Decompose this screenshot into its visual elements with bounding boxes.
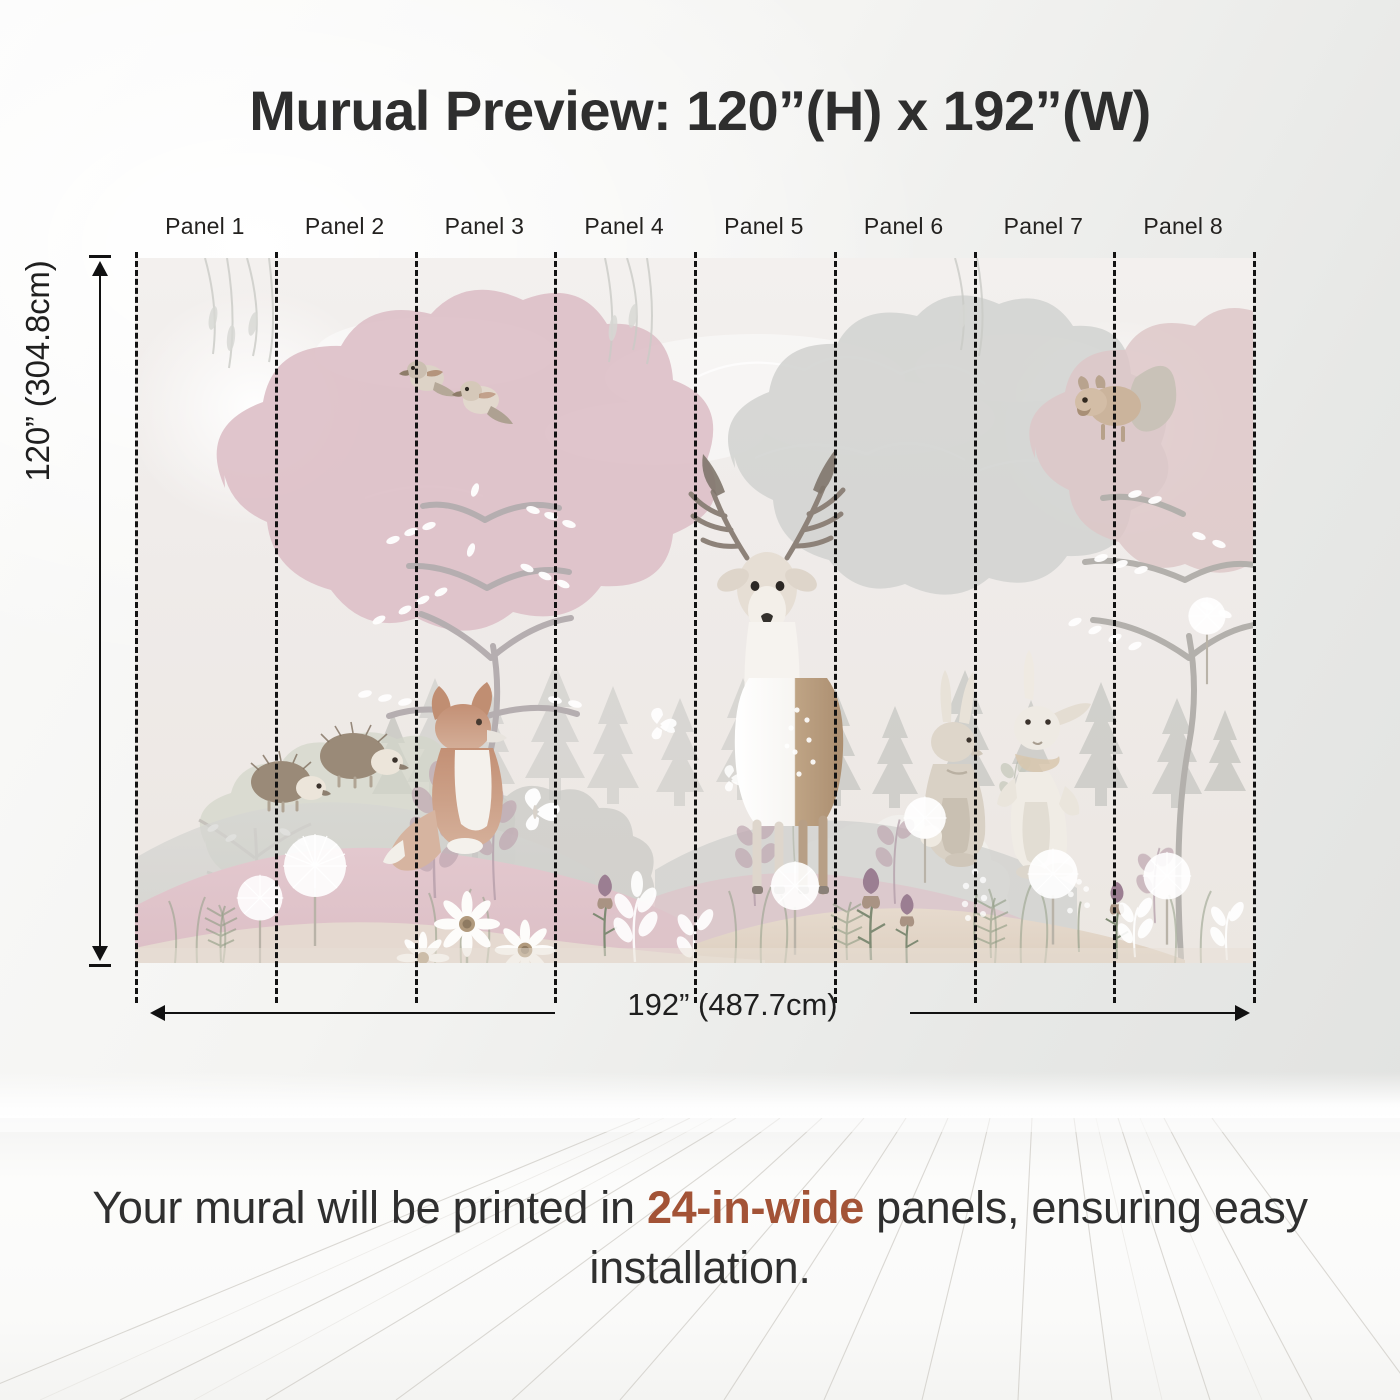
- panel-label-4: Panel 4: [554, 213, 694, 240]
- panel-label-1: Panel 1: [135, 213, 275, 240]
- panel-label-7: Panel 7: [974, 213, 1114, 240]
- height-shaft: [99, 265, 101, 957]
- panel-label-5: Panel 5: [694, 213, 834, 240]
- dandelion-puff: [237, 597, 1226, 963]
- width-shaft-right: [910, 1012, 1240, 1014]
- panel-label-2: Panel 2: [275, 213, 415, 240]
- panel-divider-4: [694, 252, 697, 1003]
- panel-divider-6: [974, 252, 977, 1003]
- width-arrow-right: [1235, 1005, 1250, 1021]
- caption-highlight: 24-in-wide: [647, 1182, 864, 1233]
- panel-divider-3: [554, 252, 557, 1003]
- page-title: Murual Preview: 120”(H) x 192”(W): [0, 78, 1400, 143]
- width-dimension-label: 192” (487.7cm): [555, 987, 910, 1023]
- panel-divider-0: [135, 252, 138, 1003]
- height-arrow-down: [92, 946, 108, 961]
- panel-divider-2: [415, 252, 418, 1003]
- panel-label-3: Panel 3: [415, 213, 555, 240]
- height-dimension-label: 120” (304.8cm): [19, 111, 57, 631]
- panel-label-6: Panel 6: [834, 213, 974, 240]
- height-arrow-up: [92, 261, 108, 276]
- panel-label-row: Panel 1Panel 2Panel 3Panel 4Panel 5Panel…: [135, 213, 1253, 247]
- panel-divider-5: [834, 252, 837, 1003]
- panel-divider-7: [1113, 252, 1116, 1003]
- panel-label-8: Panel 8: [1113, 213, 1253, 240]
- height-dimension-line: [93, 255, 107, 967]
- height-cap-bottom: [89, 964, 111, 967]
- caption-lead: Your mural will be printed in: [92, 1182, 647, 1233]
- width-dimension-line: 192” (487.7cm): [150, 1003, 1250, 1023]
- height-cap-top: [89, 255, 111, 258]
- width-shaft-left: [160, 1012, 555, 1014]
- panel-divider-1: [275, 252, 278, 1003]
- panel-divider-8: [1253, 252, 1256, 1003]
- footer-caption: Your mural will be printed in 24-in-wide…: [0, 1178, 1400, 1298]
